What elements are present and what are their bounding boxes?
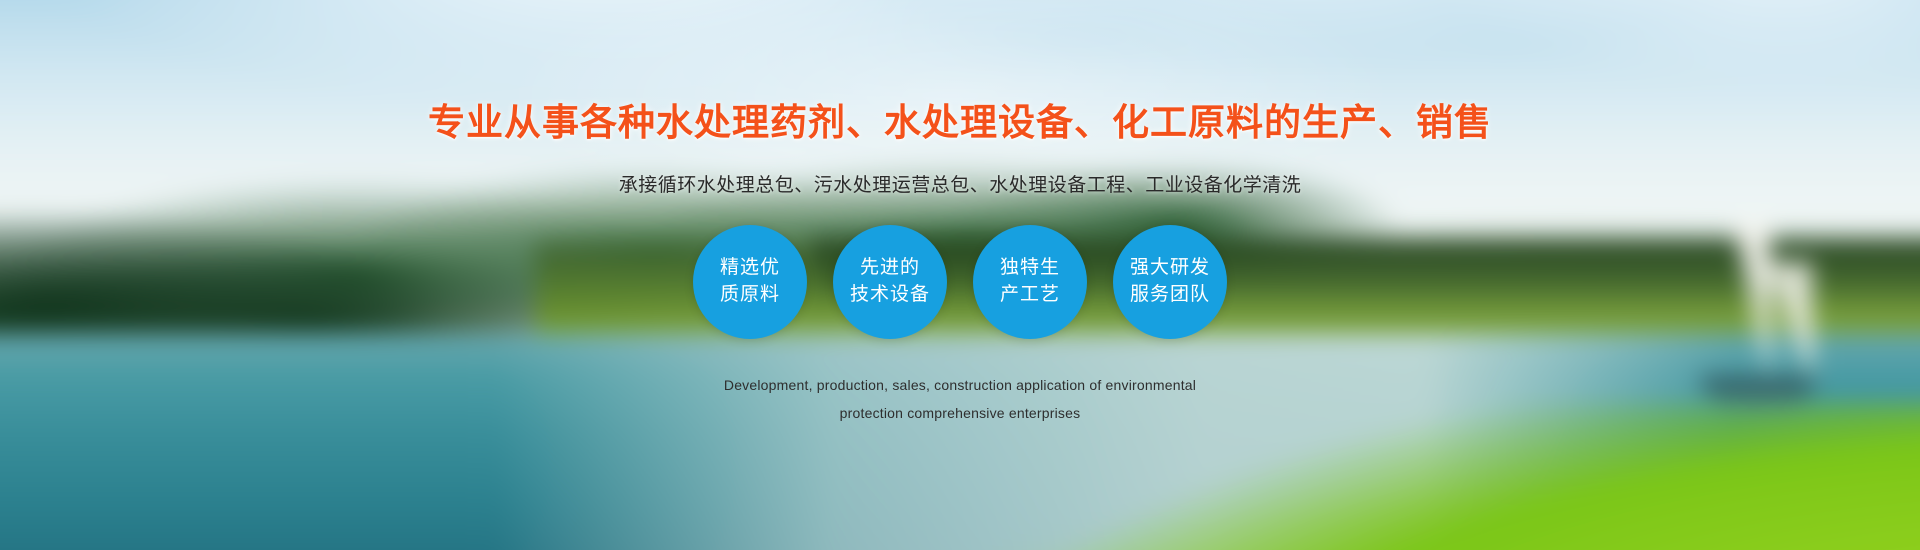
feature-circle-2-line1: 先进的: [860, 255, 920, 282]
english-caption-line-1: Development, production, sales, construc…: [724, 371, 1196, 399]
feature-circle-3-line1: 独特生: [1000, 255, 1060, 282]
feature-circle-3[interactable]: 独特生 产工艺: [973, 225, 1087, 339]
feature-circle-1-line1: 精选优: [720, 255, 780, 282]
feature-circle-1-line2: 质原料: [720, 282, 780, 309]
banner-headline: 专业从事各种水处理药剂、水处理设备、化工原料的生产、销售: [428, 92, 1492, 146]
english-caption: Development, production, sales, construc…: [724, 371, 1196, 427]
english-caption-line-2: protection comprehensive enterprises: [724, 399, 1196, 427]
feature-circle-4-line1: 强大研发: [1130, 255, 1210, 282]
feature-circle-4-line2: 服务团队: [1130, 282, 1210, 309]
feature-circle-3-line2: 产工艺: [1000, 282, 1060, 309]
banner-content: 专业从事各种水处理药剂、水处理设备、化工原料的生产、销售 承接循环水处理总包、污…: [0, 0, 1920, 550]
feature-circle-2[interactable]: 先进的 技术设备: [833, 225, 947, 339]
feature-circle-group: 精选优 质原料 先进的 技术设备 独特生 产工艺 强大研发 服务团队: [693, 225, 1227, 339]
banner-subheadline: 承接循环水处理总包、污水处理运营总包、水处理设备工程、工业设备化学清洗: [619, 170, 1302, 197]
feature-circle-2-line2: 技术设备: [850, 282, 930, 309]
feature-circle-1[interactable]: 精选优 质原料: [693, 225, 807, 339]
hero-banner: 专业从事各种水处理药剂、水处理设备、化工原料的生产、销售 承接循环水处理总包、污…: [0, 0, 1920, 550]
feature-circle-4[interactable]: 强大研发 服务团队: [1113, 225, 1227, 339]
